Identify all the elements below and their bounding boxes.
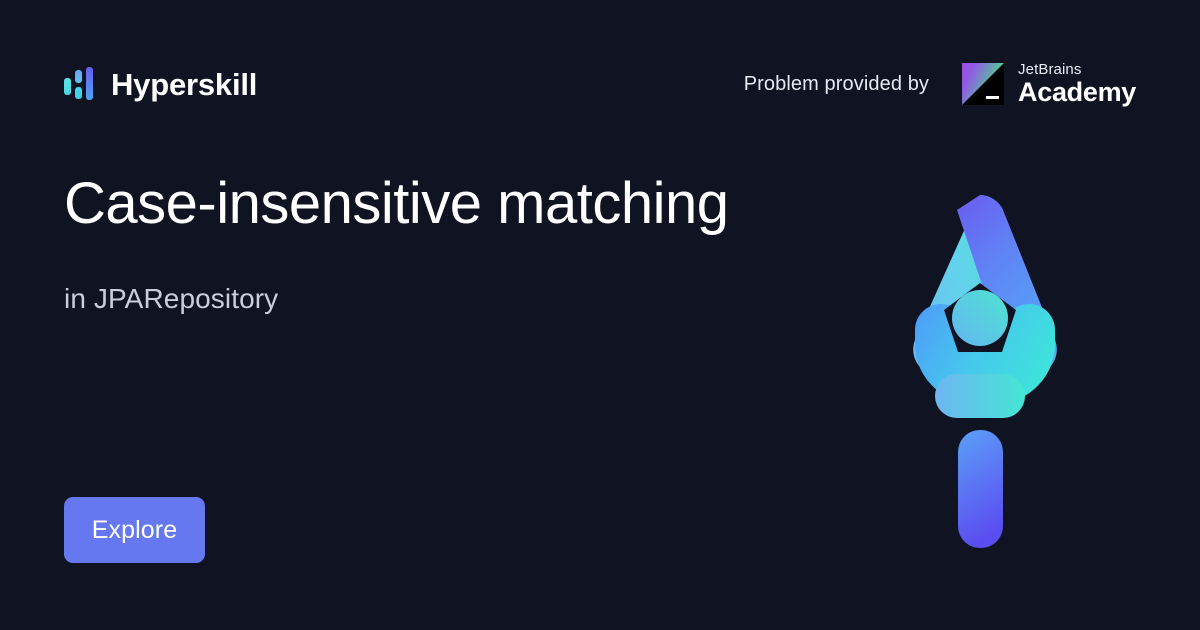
brand-name: Hyperskill	[111, 69, 257, 100]
hyperskill-brand[interactable]: Hyperskill	[64, 60, 257, 108]
promo-card: Hyperskill Problem provided by JetBrains…	[0, 0, 1200, 630]
provider-label: Problem provided by	[744, 73, 929, 96]
abstract-triangle-pen-icon	[890, 180, 1080, 570]
jetbrains-dash-icon	[986, 96, 999, 99]
horizontal-pill	[935, 374, 1025, 418]
jetbrains-text: JetBrains	[1018, 62, 1136, 77]
provider-block: Problem provided by JetBrains Academy	[744, 62, 1136, 106]
hyperskill-bar-mid-bottom	[75, 87, 82, 99]
jetbrains-academy-wordmark: JetBrains Academy	[1018, 62, 1136, 106]
header: Hyperskill Problem provided by JetBrains…	[0, 0, 1200, 168]
academy-text: Academy	[1018, 79, 1136, 106]
vertical-bar	[958, 430, 1003, 548]
hyperskill-bar-left	[64, 78, 71, 95]
page-subtitle: in JPARepository	[64, 283, 864, 315]
main-content: Case-insensitive matching in JPAReposito…	[64, 168, 864, 315]
center-circle	[952, 290, 1008, 346]
jetbrains-square-icon	[962, 63, 1004, 105]
page-title: Case-insensitive matching	[64, 172, 864, 236]
hyperskill-bars-icon	[64, 67, 94, 101]
explore-button[interactable]: Explore	[64, 497, 205, 563]
hyperskill-bar-mid-top	[75, 70, 82, 83]
jetbrains-academy-logo[interactable]: JetBrains Academy	[962, 62, 1136, 106]
hyperskill-bar-right	[86, 67, 93, 100]
